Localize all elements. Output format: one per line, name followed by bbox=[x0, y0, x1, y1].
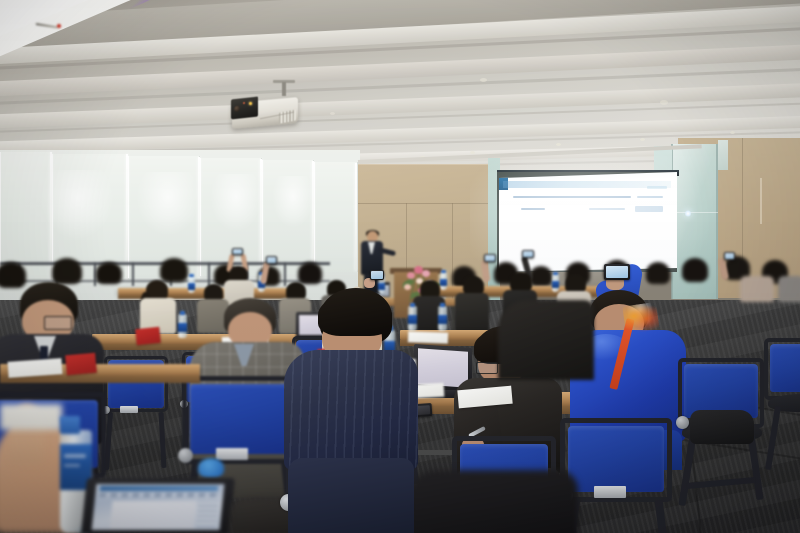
person-navy-suit bbox=[292, 288, 422, 533]
person-seated bbox=[454, 276, 490, 332]
bottle-label bbox=[188, 283, 195, 290]
chair-clamp bbox=[120, 406, 138, 413]
chair-backrest bbox=[190, 384, 290, 454]
slide-text-line bbox=[589, 208, 625, 210]
downlight-icon bbox=[730, 131, 735, 134]
bottle-cap bbox=[60, 416, 80, 434]
smartphone[interactable] bbox=[370, 270, 384, 280]
smartphone[interactable] bbox=[522, 250, 534, 258]
roller-blind[interactable] bbox=[314, 162, 358, 272]
chair-backrest bbox=[568, 426, 664, 492]
bag-on-chair bbox=[690, 410, 754, 444]
wall-panel-highlight bbox=[760, 178, 762, 224]
person-lower-body bbox=[288, 458, 414, 533]
window-glow bbox=[136, 172, 200, 236]
bottle-label-text bbox=[64, 464, 80, 467]
phone-screen bbox=[371, 271, 383, 279]
wall-panel-highlight bbox=[358, 164, 490, 165]
projector-mount-arm bbox=[282, 82, 286, 96]
slide-text-line bbox=[637, 196, 663, 198]
window-glow bbox=[272, 176, 314, 228]
eyeglasses bbox=[44, 316, 72, 330]
bottle-cap bbox=[440, 303, 445, 307]
railing-post bbox=[132, 262, 134, 286]
window-mullion bbox=[198, 157, 200, 278]
person-head bbox=[160, 258, 188, 282]
wall-panel-seam bbox=[358, 203, 490, 204]
window-mullion bbox=[355, 163, 357, 271]
bottle-cap bbox=[189, 274, 194, 277]
phone-screen bbox=[267, 257, 276, 263]
chair-clamp bbox=[594, 486, 626, 498]
conference-room-photo: A wide indoor photo of a training/confer… bbox=[0, 0, 800, 533]
projector-front-panel bbox=[231, 97, 258, 120]
person-head bbox=[96, 262, 122, 284]
app-toolbar bbox=[99, 493, 217, 497]
slide-text-line bbox=[521, 208, 545, 210]
phone-screen bbox=[233, 249, 242, 254]
smartphone[interactable] bbox=[604, 264, 630, 280]
phone-screen bbox=[606, 266, 628, 278]
slide-header-band bbox=[503, 181, 671, 188]
chair-hinge bbox=[178, 448, 193, 463]
table-edge bbox=[0, 376, 200, 383]
smartphone[interactable] bbox=[484, 254, 496, 262]
foreground-paper bbox=[0, 404, 62, 430]
glass-partition bbox=[718, 140, 728, 170]
slide-text-line bbox=[647, 186, 667, 189]
app-document-area bbox=[110, 501, 197, 529]
bottle-cap bbox=[441, 270, 446, 273]
jacket-logo bbox=[622, 302, 660, 334]
app-sidebar bbox=[196, 501, 219, 527]
person-suit bbox=[284, 350, 418, 470]
foreground-blue-object bbox=[198, 458, 224, 478]
person-hair bbox=[510, 272, 532, 292]
eyeglasses bbox=[476, 362, 498, 374]
person-hair-front bbox=[318, 294, 392, 336]
chair-backrest bbox=[770, 344, 800, 392]
window-mullion bbox=[312, 161, 314, 273]
downlight-icon bbox=[640, 138, 645, 141]
laser-pointer-tip bbox=[57, 24, 61, 28]
smoke-detector-icon bbox=[480, 78, 487, 82]
red-booklet[interactable] bbox=[65, 353, 97, 376]
foreground-knee bbox=[408, 470, 578, 533]
projector-status-led bbox=[243, 102, 245, 104]
water-bottle[interactable] bbox=[188, 276, 195, 293]
person-head bbox=[52, 258, 82, 284]
smartphone[interactable] bbox=[232, 248, 243, 255]
laptop-display bbox=[92, 484, 225, 530]
projector-power-led bbox=[249, 102, 252, 105]
person-torso bbox=[778, 276, 800, 302]
bottle-label-text bbox=[64, 454, 86, 458]
phone-screen bbox=[523, 251, 533, 257]
projector-lens-icon bbox=[234, 105, 240, 112]
glass-edge bbox=[672, 212, 718, 213]
flower-icon bbox=[422, 270, 430, 277]
downlight-icon bbox=[556, 143, 561, 146]
projector bbox=[232, 92, 298, 128]
ceiling-vent-icon bbox=[330, 112, 335, 115]
bottle-label bbox=[438, 315, 447, 324]
person-foreground-right-shoulder bbox=[498, 300, 594, 380]
slide-text-line bbox=[513, 196, 631, 198]
flower-icon bbox=[407, 272, 415, 279]
smartphone[interactable] bbox=[266, 256, 277, 264]
red-booklet[interactable] bbox=[135, 327, 161, 345]
window-mullion bbox=[260, 159, 262, 275]
smartphone[interactable] bbox=[724, 252, 735, 260]
slide-text-block bbox=[635, 206, 663, 212]
bottle-label bbox=[178, 323, 187, 332]
ceiling-sensor-icon bbox=[660, 100, 668, 105]
water-bottle[interactable] bbox=[178, 314, 187, 338]
phone-screen bbox=[485, 255, 495, 261]
window-glow bbox=[210, 174, 262, 232]
person-torso bbox=[740, 276, 774, 302]
downlight-icon bbox=[470, 151, 475, 154]
water-bottle[interactable] bbox=[438, 306, 447, 331]
bottle-cap bbox=[180, 311, 185, 315]
glass-light-spot bbox=[684, 210, 692, 217]
person-head bbox=[298, 262, 322, 284]
chair-hinge bbox=[676, 416, 689, 429]
chair-clamp bbox=[216, 448, 248, 460]
app-titlebar bbox=[100, 486, 219, 491]
railing-post bbox=[208, 262, 210, 286]
phone-screen bbox=[725, 253, 734, 259]
foreground-laptop[interactable] bbox=[84, 478, 234, 533]
